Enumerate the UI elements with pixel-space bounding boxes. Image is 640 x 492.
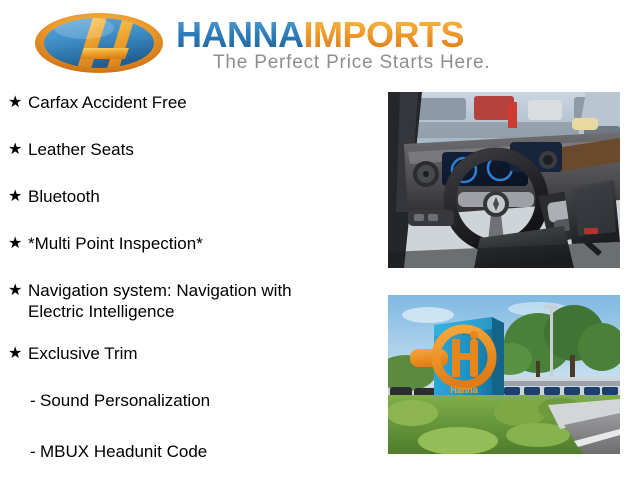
list-item: ★ Carfax Accident Free bbox=[0, 92, 380, 118]
brand-tagline: The Perfect Price Starts Here. bbox=[213, 52, 490, 74]
brand-wordmark: HANNAIMPORTS bbox=[176, 16, 521, 54]
list-item-label: *Multi Point Inspection* bbox=[28, 233, 203, 254]
star-bullet-icon: ★ bbox=[8, 233, 28, 254]
list-item: ★ Exclusive Trim bbox=[0, 343, 380, 369]
vehicle-feature-list: ★ Carfax Accident Free ★ Leather Seats ★… bbox=[0, 92, 380, 492]
list-item-label: Bluetooth bbox=[28, 186, 100, 207]
list-item-label: Leather Seats bbox=[28, 139, 134, 160]
dash-bullet-icon: - bbox=[30, 441, 40, 462]
hanna-h-oval-logo-icon bbox=[32, 12, 166, 74]
list-item-label: Sound Personalization bbox=[40, 390, 210, 411]
star-bullet-icon: ★ bbox=[8, 139, 28, 160]
star-bullet-icon: ★ bbox=[8, 92, 28, 113]
star-bullet-icon: ★ bbox=[8, 343, 28, 364]
list-item-label: Carfax Accident Free bbox=[28, 92, 187, 113]
brand-word-secondary: IMPORTS bbox=[304, 14, 465, 55]
brand-word-primary: HANNA bbox=[176, 14, 304, 55]
dealership-sign-photo: 2401 Hanna Imports bbox=[388, 295, 620, 454]
vehicle-interior-photo bbox=[388, 92, 620, 268]
svg-text:Hanna: Hanna bbox=[450, 385, 479, 395]
list-item: - MBUX Headunit Code bbox=[0, 441, 380, 467]
dash-bullet-icon: - bbox=[30, 390, 40, 411]
list-item-label: MBUX Headunit Code bbox=[40, 441, 207, 462]
brand-header: HANNAIMPORTS The Perfect Price Starts He… bbox=[0, 0, 640, 84]
list-item: ★ *Multi Point Inspection* bbox=[0, 233, 380, 259]
list-item-label: Navigation system: Navigation with Elect… bbox=[28, 280, 348, 322]
list-item: ★ Bluetooth bbox=[0, 186, 380, 212]
star-bullet-icon: ★ bbox=[8, 186, 28, 207]
list-item: ★ Leather Seats bbox=[0, 139, 380, 165]
list-item: ★ Navigation system: Navigation with Ele… bbox=[0, 280, 380, 322]
list-item-label: Exclusive Trim bbox=[28, 343, 138, 364]
star-bullet-icon: ★ bbox=[8, 280, 28, 301]
list-item: - Sound Personalization bbox=[0, 390, 380, 416]
